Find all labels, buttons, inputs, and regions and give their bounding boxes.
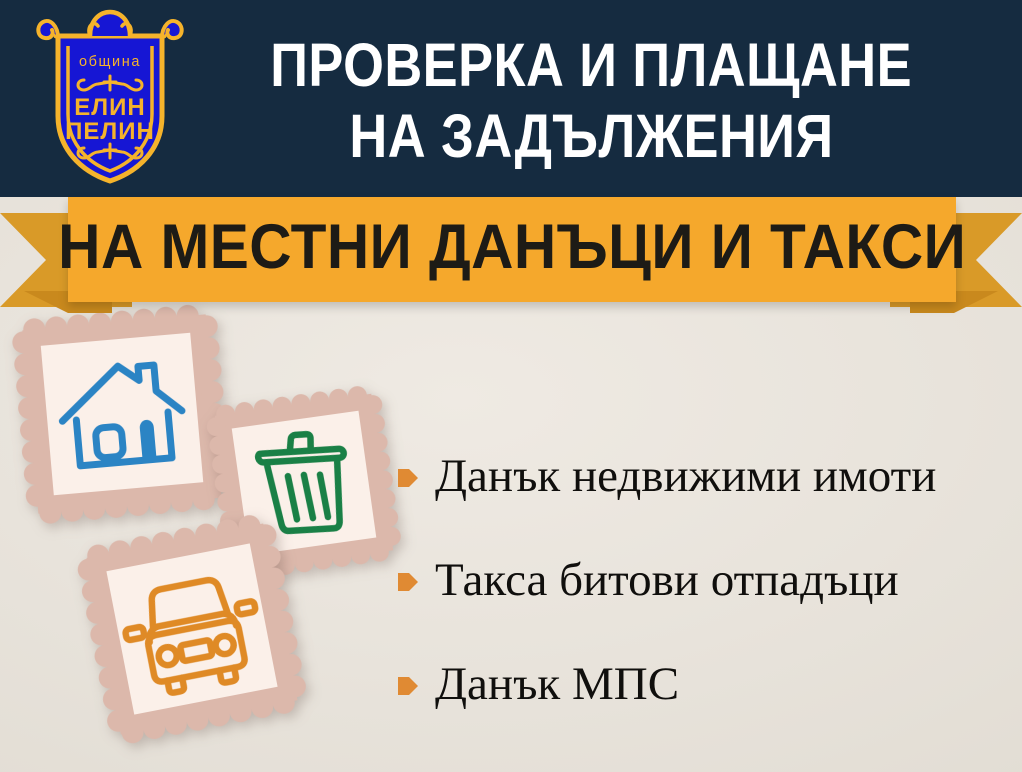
crest-label-pelin: ПЕЛИН <box>65 118 155 145</box>
list-item: Данък недвижими имоти <box>398 425 1008 529</box>
list-item: Данък МПС <box>398 633 1008 737</box>
page-title-line-1: ПРОВЕРКА И ПЛАЩАНЕ <box>270 30 912 101</box>
ribbon-text: НА МЕСТНИ ДАНЪЦИ И ТАКСИ <box>58 216 966 283</box>
list-item-label: Данък недвижими имоти <box>435 452 936 501</box>
stamp-card-car <box>70 507 314 751</box>
subtitle-ribbon: НА МЕСТНИ ДАНЪЦИ И ТАКСИ <box>0 197 1022 307</box>
crest-label-obshtina: община <box>79 54 141 70</box>
arrow-bullet-icon <box>398 467 418 489</box>
page-title: ПРОВЕРКА И ПЛАЩАНЕ НА ЗАДЪЛЖЕНИЯ <box>186 16 996 186</box>
ribbon-band: НА МЕСТНИ ДАНЪЦИ И ТАКСИ <box>68 197 956 302</box>
crest-label-elin: ЕЛИН <box>74 94 145 121</box>
poster-root: община ЕЛИН ПЕЛИН ПРОВЕРКА И ПЛАЩАНЕ НА … <box>0 0 1022 772</box>
list-item-label: Данък МПС <box>435 660 679 709</box>
header-bar: община ЕЛИН ПЕЛИН ПРОВЕРКА И ПЛАЩАНЕ НА … <box>0 0 1022 197</box>
municipality-crest: община ЕЛИН ПЕЛИН <box>32 8 188 190</box>
list-item: Такса битови отпадъци <box>398 529 1008 633</box>
arrow-bullet-icon <box>398 571 418 593</box>
arrow-bullet-icon <box>398 675 418 697</box>
tax-type-list: Данък недвижими имоти Такса битови отпад… <box>398 425 1008 737</box>
list-item-label: Такса битови отпадъци <box>435 556 899 605</box>
page-title-line-2: НА ЗАДЪЛЖЕНИЯ <box>349 101 833 172</box>
